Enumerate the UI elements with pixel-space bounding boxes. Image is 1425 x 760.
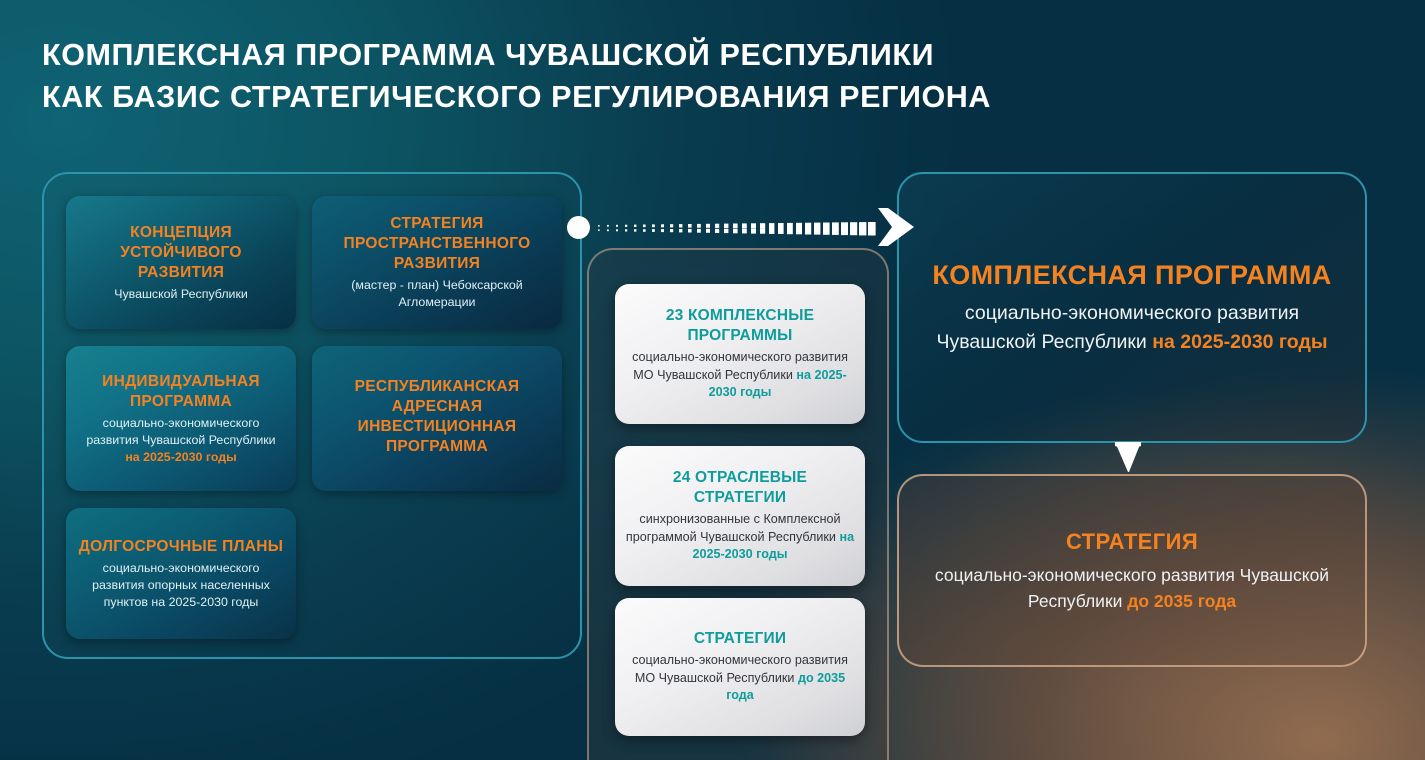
card-subtitle: синхронизованные с Комплексной программо… <box>625 511 855 564</box>
card-republican-targeted-investment-program[interactable]: РЕСПУБЛИКАНСКАЯ АДРЕСНАЯ ИНВЕСТИЦИОННАЯ … <box>312 346 562 491</box>
card-subtitle-pre: Чувашской Республики <box>114 287 248 301</box>
card-heading: 24 ОТРАСЛЕВЫЕ СТРАТЕГИИ <box>625 468 855 508</box>
infographic-canvas: КОМПЛЕКСНАЯ ПРОГРАММА ЧУВАШСКОЙ РЕСПУБЛИ… <box>0 0 1425 760</box>
card-heading: СТРАТЕГИИ <box>694 629 786 649</box>
card-subtitle: социально-экономического развития Чувашс… <box>78 415 284 466</box>
page-title-line-1: КОМПЛЕКСНАЯ ПРОГРАММА ЧУВАШСКОЙ РЕСПУБЛИ… <box>42 38 934 72</box>
card-heading: ДОЛГОСРОЧНЫЕ ПЛАНЫ <box>79 537 284 557</box>
card-heading: КОМПЛЕКСНАЯ ПРОГРАММА <box>932 258 1331 293</box>
card-subtitle-pre: социально-экономического развития Чувашс… <box>86 416 275 447</box>
card-subtitle: социально-экономического развития опорны… <box>78 560 284 611</box>
card-subtitle: социально-экономического развития МО Чув… <box>625 652 855 705</box>
page-title-line-2: КАК БАЗИС СТРАТЕГИЧЕСКОГО РЕГУЛИРОВАНИЯ … <box>42 76 1222 118</box>
card-subtitle-highlight: на 2025-2030 годы <box>1152 331 1327 353</box>
left-documents-group: КОНЦЕПЦИЯ УСТОЙЧИВОГО РАЗВИТИЯ Чувашской… <box>42 172 582 659</box>
card-strategy-result[interactable]: СТРАТЕГИЯ социально-экономического разви… <box>897 474 1367 667</box>
card-heading: СТРАТЕГИЯ ПРОСТРАНСТВЕННОГО РАЗВИТИЯ <box>324 214 550 274</box>
card-subtitle-pre: социально-экономического развития опорны… <box>92 561 270 609</box>
page-title: КОМПЛЕКСНАЯ ПРОГРАММА ЧУВАШСКОЙ РЕСПУБЛИ… <box>42 34 1222 118</box>
card-heading: РЕСПУБЛИКАНСКАЯ АДРЕСНАЯ ИНВЕСТИЦИОННАЯ … <box>324 377 550 457</box>
connector-arrow-down-icon <box>1113 442 1143 474</box>
connector-arrow-right-icon <box>878 206 918 248</box>
card-heading: КОНЦЕПЦИЯ УСТОЙЧИВОГО РАЗВИТИЯ <box>78 223 284 283</box>
card-subtitle-pre: (мастер - план) Чебоксарской Агломерации <box>351 278 522 309</box>
card-24-sectoral-strategies[interactable]: 24 ОТРАСЛЕВЫЕ СТРАТЕГИИ синхронизованные… <box>615 446 865 586</box>
card-complex-program-result[interactable]: КОМПЛЕКСНАЯ ПРОГРАММА социально-экономич… <box>897 172 1367 443</box>
card-subtitle: социально-экономического развития Чувашс… <box>929 562 1335 614</box>
card-subtitle: (мастер - план) Чебоксарской Агломерации <box>324 277 550 311</box>
card-23-complex-programs[interactable]: 23 КОМПЛЕКСНЫЕ ПРОГРАММЫ социально-эконо… <box>615 284 865 424</box>
card-subtitle: социально-экономического развития МО Чув… <box>625 349 855 402</box>
card-longterm-plans[interactable]: ДОЛГОСРОЧНЫЕ ПЛАНЫ социально-экономическ… <box>66 508 296 639</box>
card-heading: 23 КОМПЛЕКСНЫЕ ПРОГРАММЫ <box>625 306 855 346</box>
connector-dotted-line-icon <box>598 218 888 238</box>
card-subtitle-highlight: до 2035 года <box>1127 591 1236 611</box>
card-subtitle-pre: синхронизованные с Комплексной программо… <box>626 512 841 544</box>
card-municipal-strategies[interactable]: СТРАТЕГИИ социально-экономического разви… <box>615 598 865 736</box>
card-subtitle: Чувашской Республики <box>114 286 248 303</box>
card-individual-program[interactable]: ИНДИВИДУАЛЬНАЯ ПРОГРАММА социально-эконо… <box>66 346 296 491</box>
card-heading: ИНДИВИДУАЛЬНАЯ ПРОГРАММА <box>78 372 284 412</box>
card-spatial-development-strategy[interactable]: СТРАТЕГИЯ ПРОСТРАНСТВЕННОГО РАЗВИТИЯ (ма… <box>312 196 562 329</box>
connector-start-circle-icon <box>567 216 590 239</box>
card-heading: СТРАТЕГИЯ <box>1066 527 1198 557</box>
card-subtitle-highlight: на 2025-2030 годы <box>125 450 236 464</box>
middle-municipal-documents-group: 23 КОМПЛЕКСНЫЕ ПРОГРАММЫ социально-эконо… <box>587 248 889 760</box>
card-subtitle: социально-экономического развития Чувашс… <box>929 299 1335 357</box>
card-concept-sustainable-development[interactable]: КОНЦЕПЦИЯ УСТОЙЧИВОГО РАЗВИТИЯ Чувашской… <box>66 196 296 329</box>
